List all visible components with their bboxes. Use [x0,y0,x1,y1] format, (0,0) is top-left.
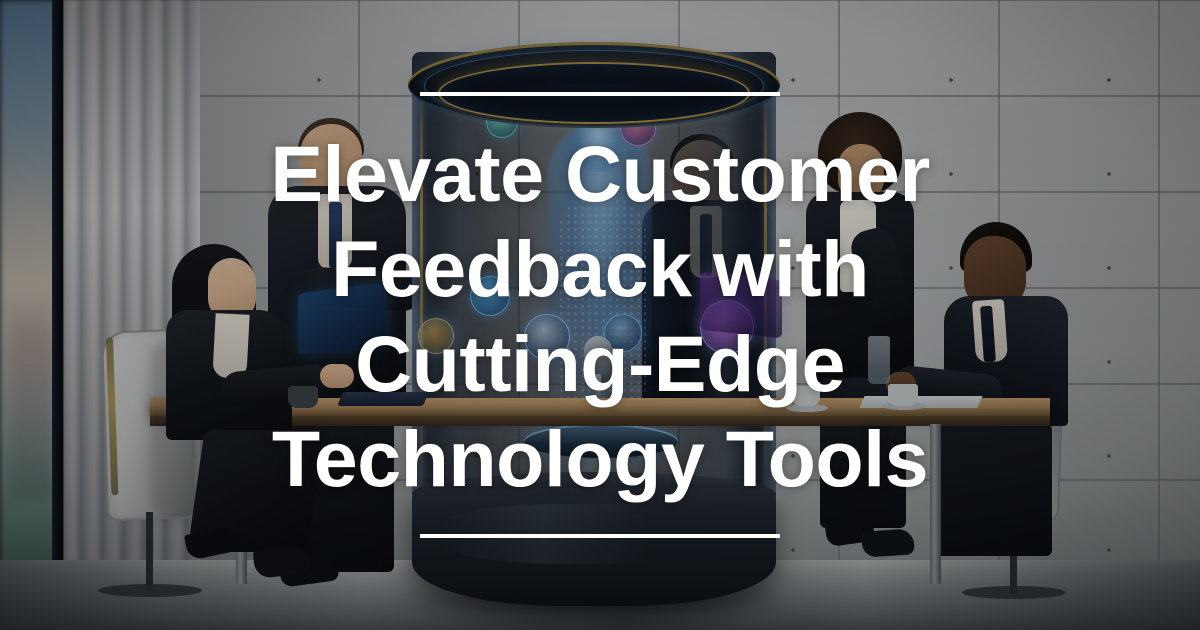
divider-top [420,92,780,96]
divider-bottom [420,534,780,538]
page-title: Elevate Customer Feedback with Cutting-E… [270,126,929,506]
headline-overlay: Elevate Customer Feedback with Cutting-E… [0,0,1200,630]
banner-canvas: Elevate Customer Feedback with Cutting-E… [0,0,1200,630]
